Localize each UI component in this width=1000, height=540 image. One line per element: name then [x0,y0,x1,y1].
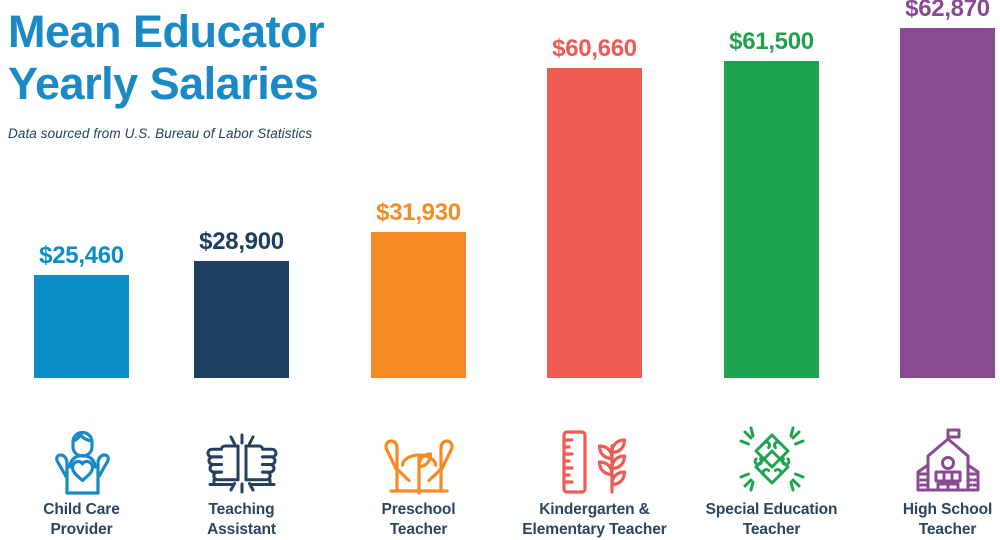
bar-value-label: $61,500 [729,28,814,56]
bar-rect[interactable] [724,61,819,378]
bar-column: $31,930 [337,199,500,378]
bar-caption: Preschool Teacher [381,500,455,540]
bar-column: $60,660 [513,35,676,378]
child-heart-in-hands-icon [37,422,127,496]
ruler-and-plant-icon [550,422,640,496]
bar-column: $25,460 [0,242,163,378]
bar-footer: Teaching Assistant [160,422,323,540]
infographic-canvas: Mean Educator Yearly Salaries Data sourc… [0,0,1000,540]
bar-rect[interactable] [371,232,466,378]
puzzle-diamond-icon [727,422,817,496]
bar-caption: High School Teacher [903,500,992,540]
school-building-icon [903,422,993,496]
hands-holding-sprout-icon [374,422,464,496]
bar-column: $61,500 [690,28,853,378]
bar-caption: Child Care Provider [43,500,120,540]
bar-footer: Kindergarten & Elementary Teacher [513,422,676,540]
bar-rect[interactable] [34,275,129,378]
bar-value-label: $62,870 [905,0,990,23]
bar-caption: Special Education Teacher [706,500,838,540]
bar-value-label: $60,660 [552,35,637,63]
bar-footer: Preschool Teacher [337,422,500,540]
bar-caption: Teaching Assistant [207,500,276,540]
bar-value-label: $25,460 [39,242,124,270]
bar-caption: Kindergarten & Elementary Teacher [522,500,666,540]
bar-footer: High School Teacher [866,422,1000,540]
bar-footer: Child Care Provider [0,422,163,540]
bar-column: $62,870 [866,0,1000,378]
bar-footer: Special Education Teacher [690,422,853,540]
bar-rect[interactable] [547,68,642,378]
bar-value-label: $31,930 [376,199,461,227]
bar-rect[interactable] [194,261,289,378]
bar-chart: $25,460 Child Care Provider [0,0,1000,540]
fist-bump-icon [197,422,287,496]
bar-rect[interactable] [900,28,995,378]
bar-value-label: $28,900 [199,228,284,256]
bar-column: $28,900 [160,228,323,378]
